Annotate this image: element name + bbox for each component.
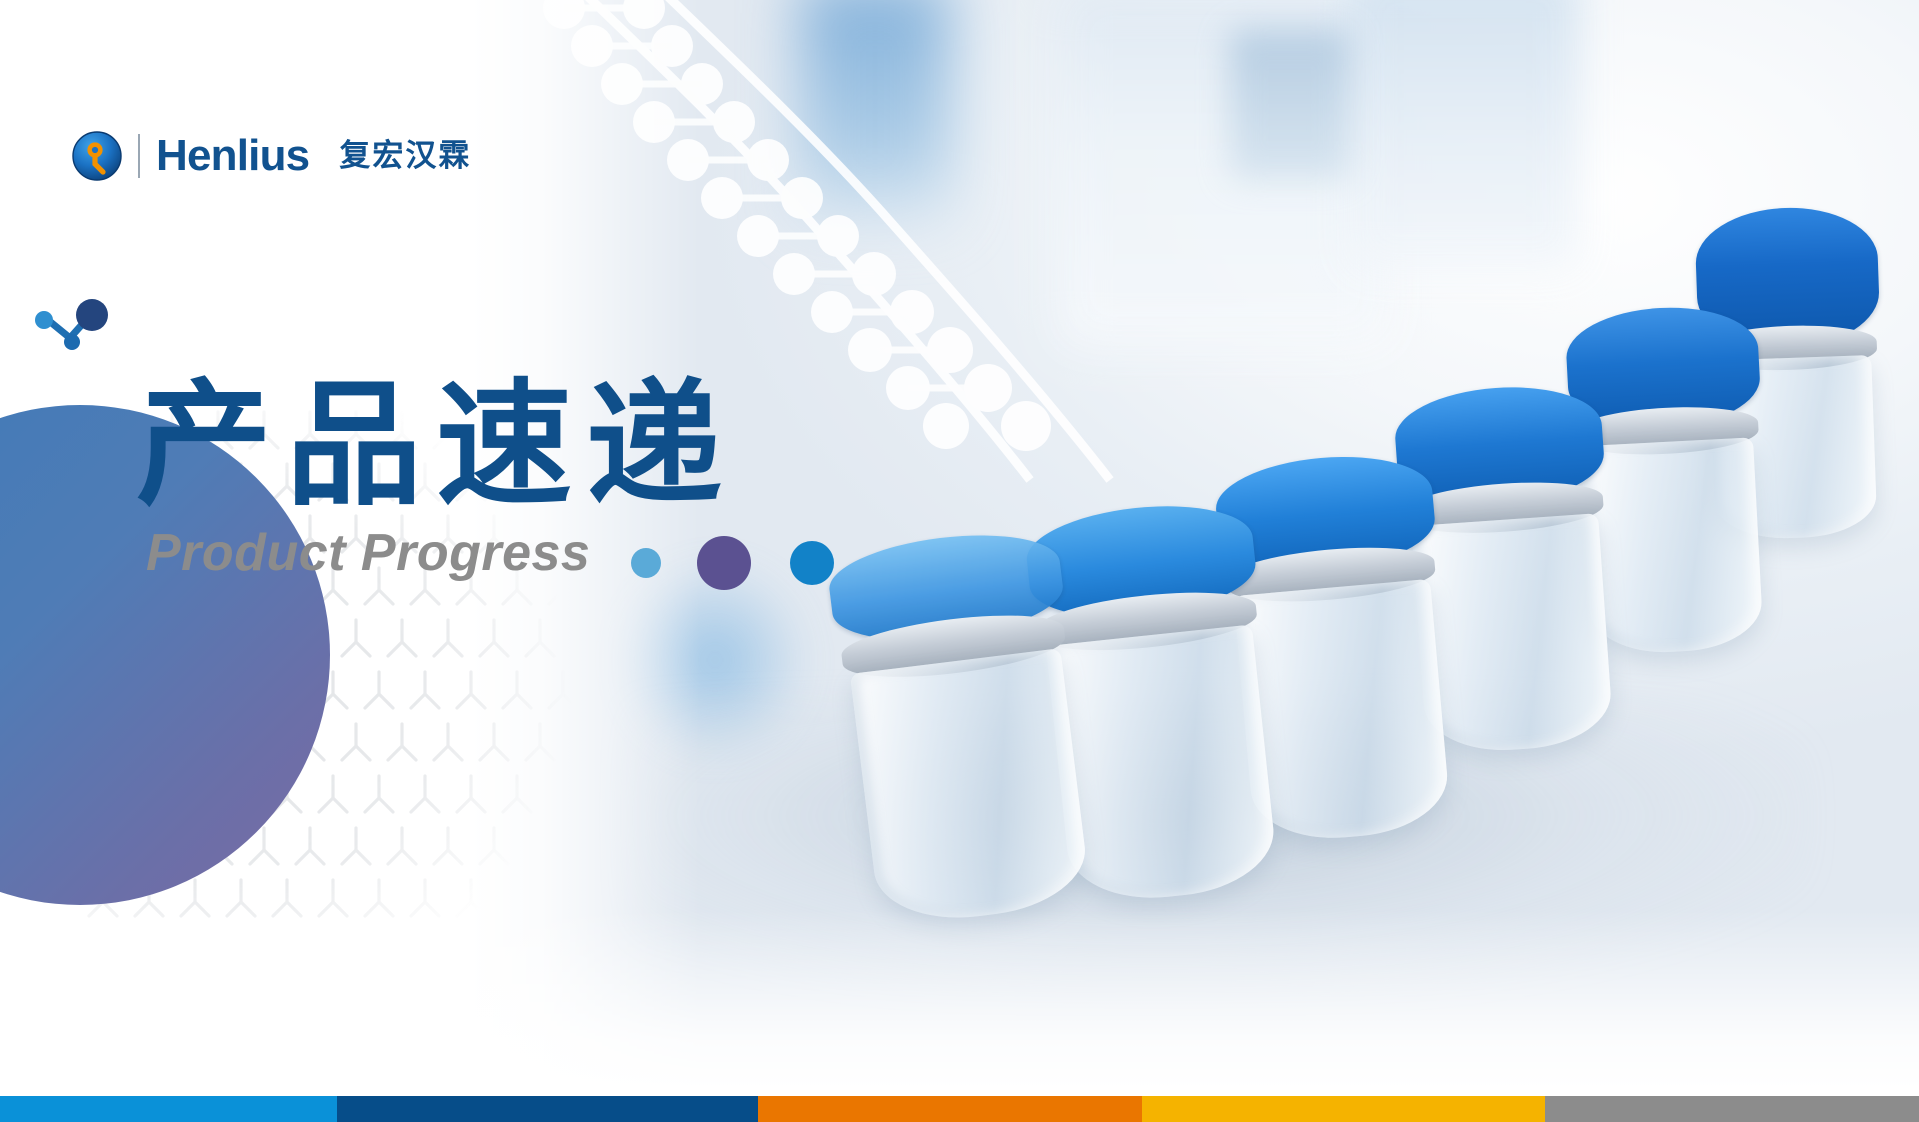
logo-chinese-name: 复宏汉霖: [339, 141, 471, 172]
page-subtitle-en: Product Progress: [146, 527, 590, 579]
slide-root: Henlius 复宏汉霖 产品速递 Product Progress: [0, 0, 1919, 1122]
hero-photo: [470, 0, 1919, 1090]
molecule-icon: [22, 298, 142, 370]
henlius-molecule-mark-icon: [72, 131, 122, 181]
bottom-bar-segment-1: [0, 1096, 337, 1122]
logo-wordmark: Henlius: [156, 134, 309, 178]
bottom-bar-segment-4: [1142, 1096, 1545, 1122]
bottom-color-bar: [0, 1096, 1919, 1122]
bottom-bar-segment-5: [1545, 1096, 1919, 1122]
page-title-cn: 产品速递: [136, 378, 736, 514]
dot-icon: [631, 548, 661, 578]
photo-blurred-label: [1230, 30, 1350, 180]
vial-body-1: [850, 648, 1092, 928]
bottom-bar-segment-2: [337, 1096, 758, 1122]
vial-row: [800, 160, 1919, 900]
brand-logo[interactable]: Henlius 复宏汉霖: [72, 126, 471, 186]
bottom-bar-segment-3: [758, 1096, 1142, 1122]
photo-bottom-fade: [470, 910, 1919, 1090]
molecule-icon: [694, 528, 842, 598]
logo-divider: [138, 134, 140, 178]
vial-1: [821, 523, 1106, 929]
